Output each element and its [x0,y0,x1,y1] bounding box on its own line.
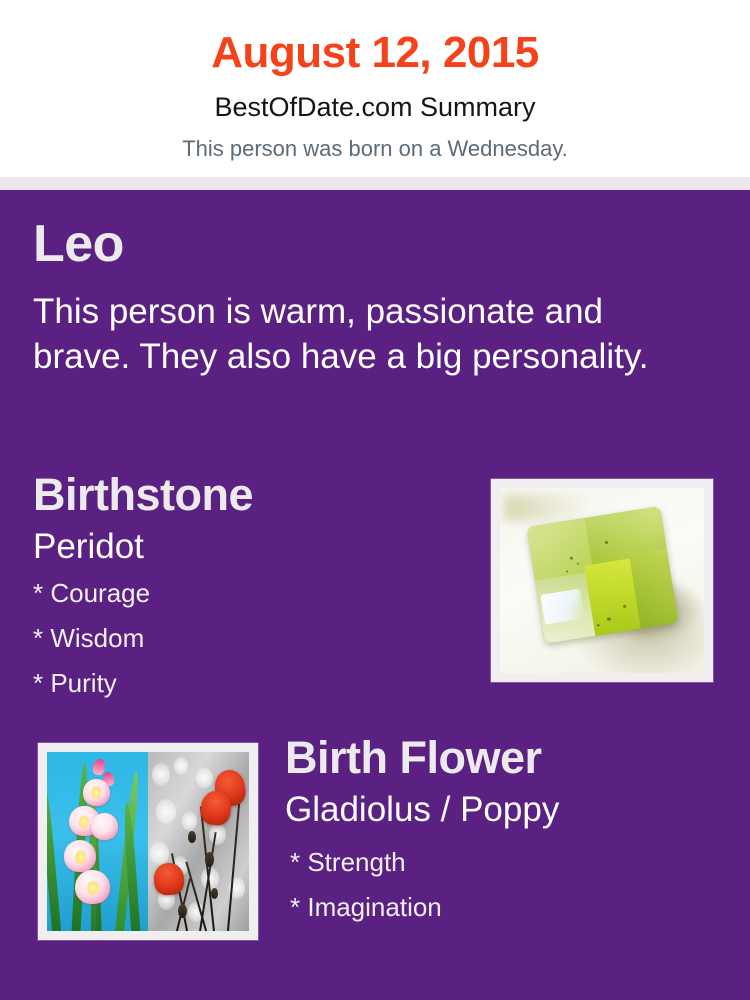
list-item: * Imagination [290,894,705,920]
gladiolus-poppy-icon [47,752,249,931]
birthstone-image [500,488,704,673]
poppy-bud [178,904,187,918]
gem-inclusion [577,562,579,564]
gladiolus-bloom [91,813,117,840]
summary-body: Leo This person is warm, passionate and … [0,190,750,1000]
list-item: * Wisdom [33,625,463,651]
gem-inclusion [596,623,599,625]
birth-flower-trait-list: * Strength * Imagination [290,849,705,920]
poppy-bud [188,831,196,844]
bokeh-light [174,757,188,775]
header-divider [0,177,750,190]
poppy-bud [211,888,218,899]
birthstone-section: Birthstone Peridot * Courage * Wisdom * … [33,472,463,715]
poppy-photo-half [148,752,249,931]
zodiac-section: Leo This person is warm, passionate and … [33,218,693,380]
leaf [47,777,62,931]
birth-day-of-week-text: This person was born on a Wednesday. [0,121,750,160]
list-item: * Purity [33,670,463,696]
bokeh-light [152,763,170,786]
poppy-bud [205,852,214,866]
gem-facet [526,518,593,581]
gladiolus-photo-half [47,752,148,931]
bokeh-light [150,842,169,865]
gem-highlight [540,588,585,625]
zodiac-description: This person is warm, passionate and brav… [33,290,681,380]
page-title-date: August 12, 2015 [0,0,750,75]
peridot-gemstone-icon [500,488,704,673]
gem-inclusion [606,617,610,621]
gem-inclusion [566,570,568,572]
gladiolus-core [87,881,98,895]
gem-inclusion [569,556,572,559]
birthstone-image-frame [491,479,713,682]
birth-flower-name: Gladiolus / Poppy [285,792,705,827]
bokeh-light [182,811,197,831]
birth-flower-title: Birth Flower [285,735,705,780]
bokeh-light [196,768,212,788]
site-summary-label: BestOfDate.com Summary [0,75,750,121]
birth-flower-image [47,752,249,931]
gladiolus-core [91,786,100,799]
birth-flower-image-frame [38,743,258,940]
bokeh-light [156,799,176,824]
birth-flower-section: Birth Flower Gladiolus / Poppy * Strengt… [285,735,705,939]
list-item: * Strength [290,849,705,875]
page-root: August 12, 2015 BestOfDate.com Summary T… [0,0,750,1000]
poppy-bloom [199,790,233,827]
gem-inclusion [605,540,608,543]
gem-body [526,506,677,644]
zodiac-sign-name: Leo [33,218,693,270]
birthstone-title: Birthstone [33,472,463,517]
list-item: * Courage [33,580,463,606]
birthstone-name: Peridot [33,529,463,564]
birthstone-trait-list: * Courage * Wisdom * Purity [33,580,463,696]
bokeh-light [209,824,226,845]
page-header: August 12, 2015 BestOfDate.com Summary T… [0,0,750,177]
